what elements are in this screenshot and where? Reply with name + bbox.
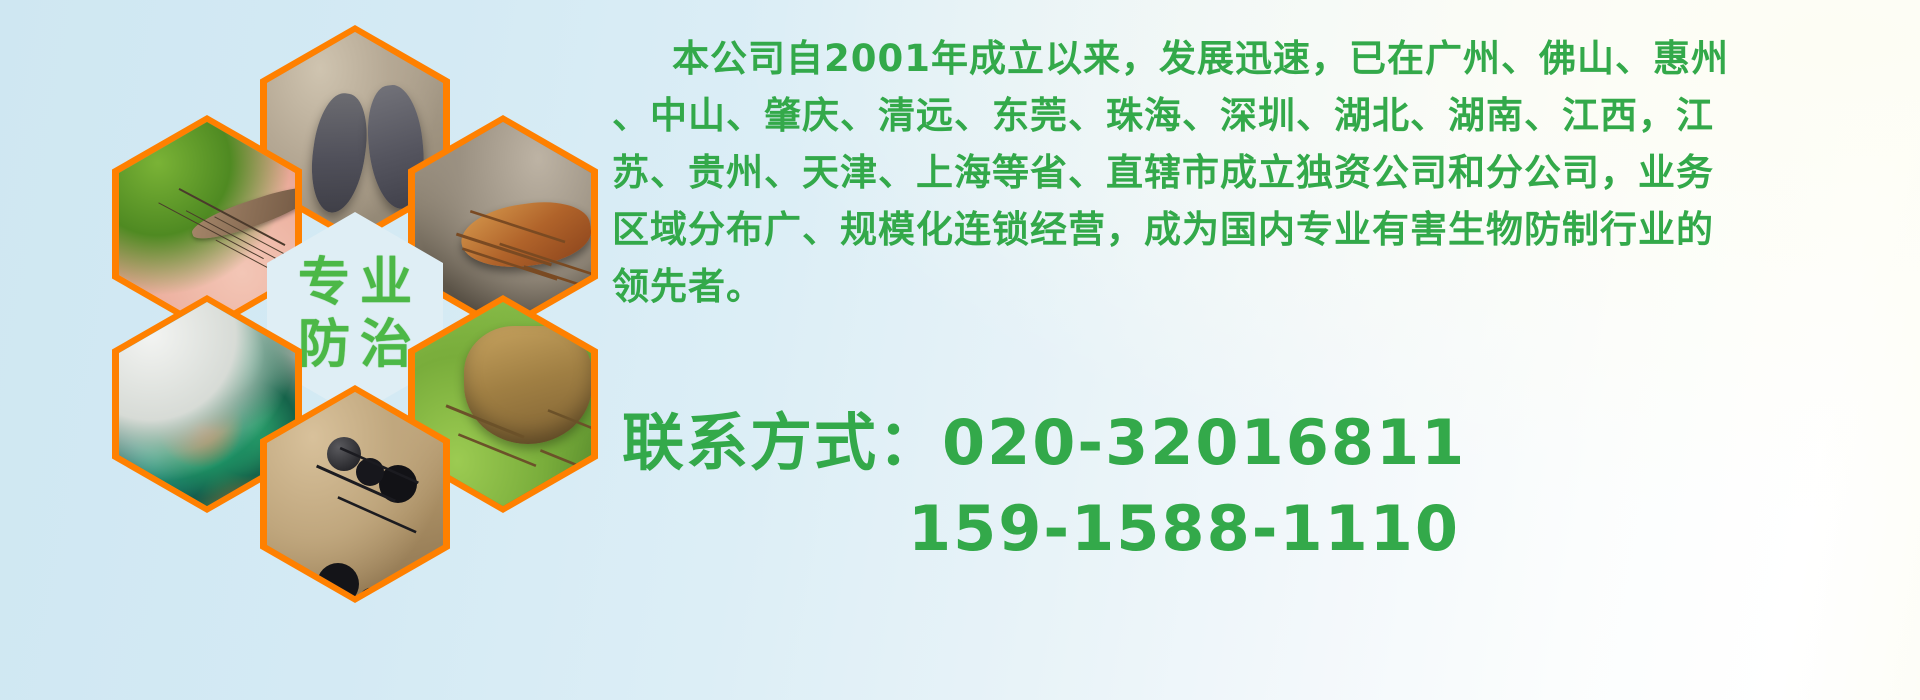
description-line-4: 区域分布广、规模化连锁经营，成为国内专业有害生物防制行业的: [612, 201, 1912, 258]
contact-line-landline[interactable]: 联系方式：020-32016811: [622, 400, 1920, 486]
collage-label-line2: 防治: [288, 317, 422, 373]
company-description: 本公司自2001年成立以来，发展迅速，已在广州、佛山、惠州 、中山、肇庆、清远、…: [612, 30, 1912, 315]
contact-block: 联系方式：020-32016811 159-1588-1110: [622, 400, 1920, 572]
collage-label-line1: 专业: [288, 255, 422, 311]
hex-inner-ant: [267, 392, 443, 596]
description-line-1: 本公司自2001年成立以来，发展迅速，已在广州、佛山、惠州: [612, 30, 1912, 87]
ant-photo: [267, 392, 443, 596]
description-line-3: 苏、贵州、天津、上海等省、直辖市成立独资公司和分公司，业务: [612, 144, 1912, 201]
description-line-5: 领先者。: [612, 258, 1912, 315]
hexagon-photo-collage: 专业 防治: [90, 0, 610, 580]
pest-control-banner: 专业 防治 本公司自2001年成立以来，发展迅速，已在广州、佛山、惠州: [0, 0, 1920, 700]
contact-line-mobile[interactable]: 159-1588-1110: [622, 486, 1920, 572]
description-line-2: 、中山、肇庆、清远、东莞、珠海、深圳、湖北、湖南、江西，江: [612, 87, 1912, 144]
